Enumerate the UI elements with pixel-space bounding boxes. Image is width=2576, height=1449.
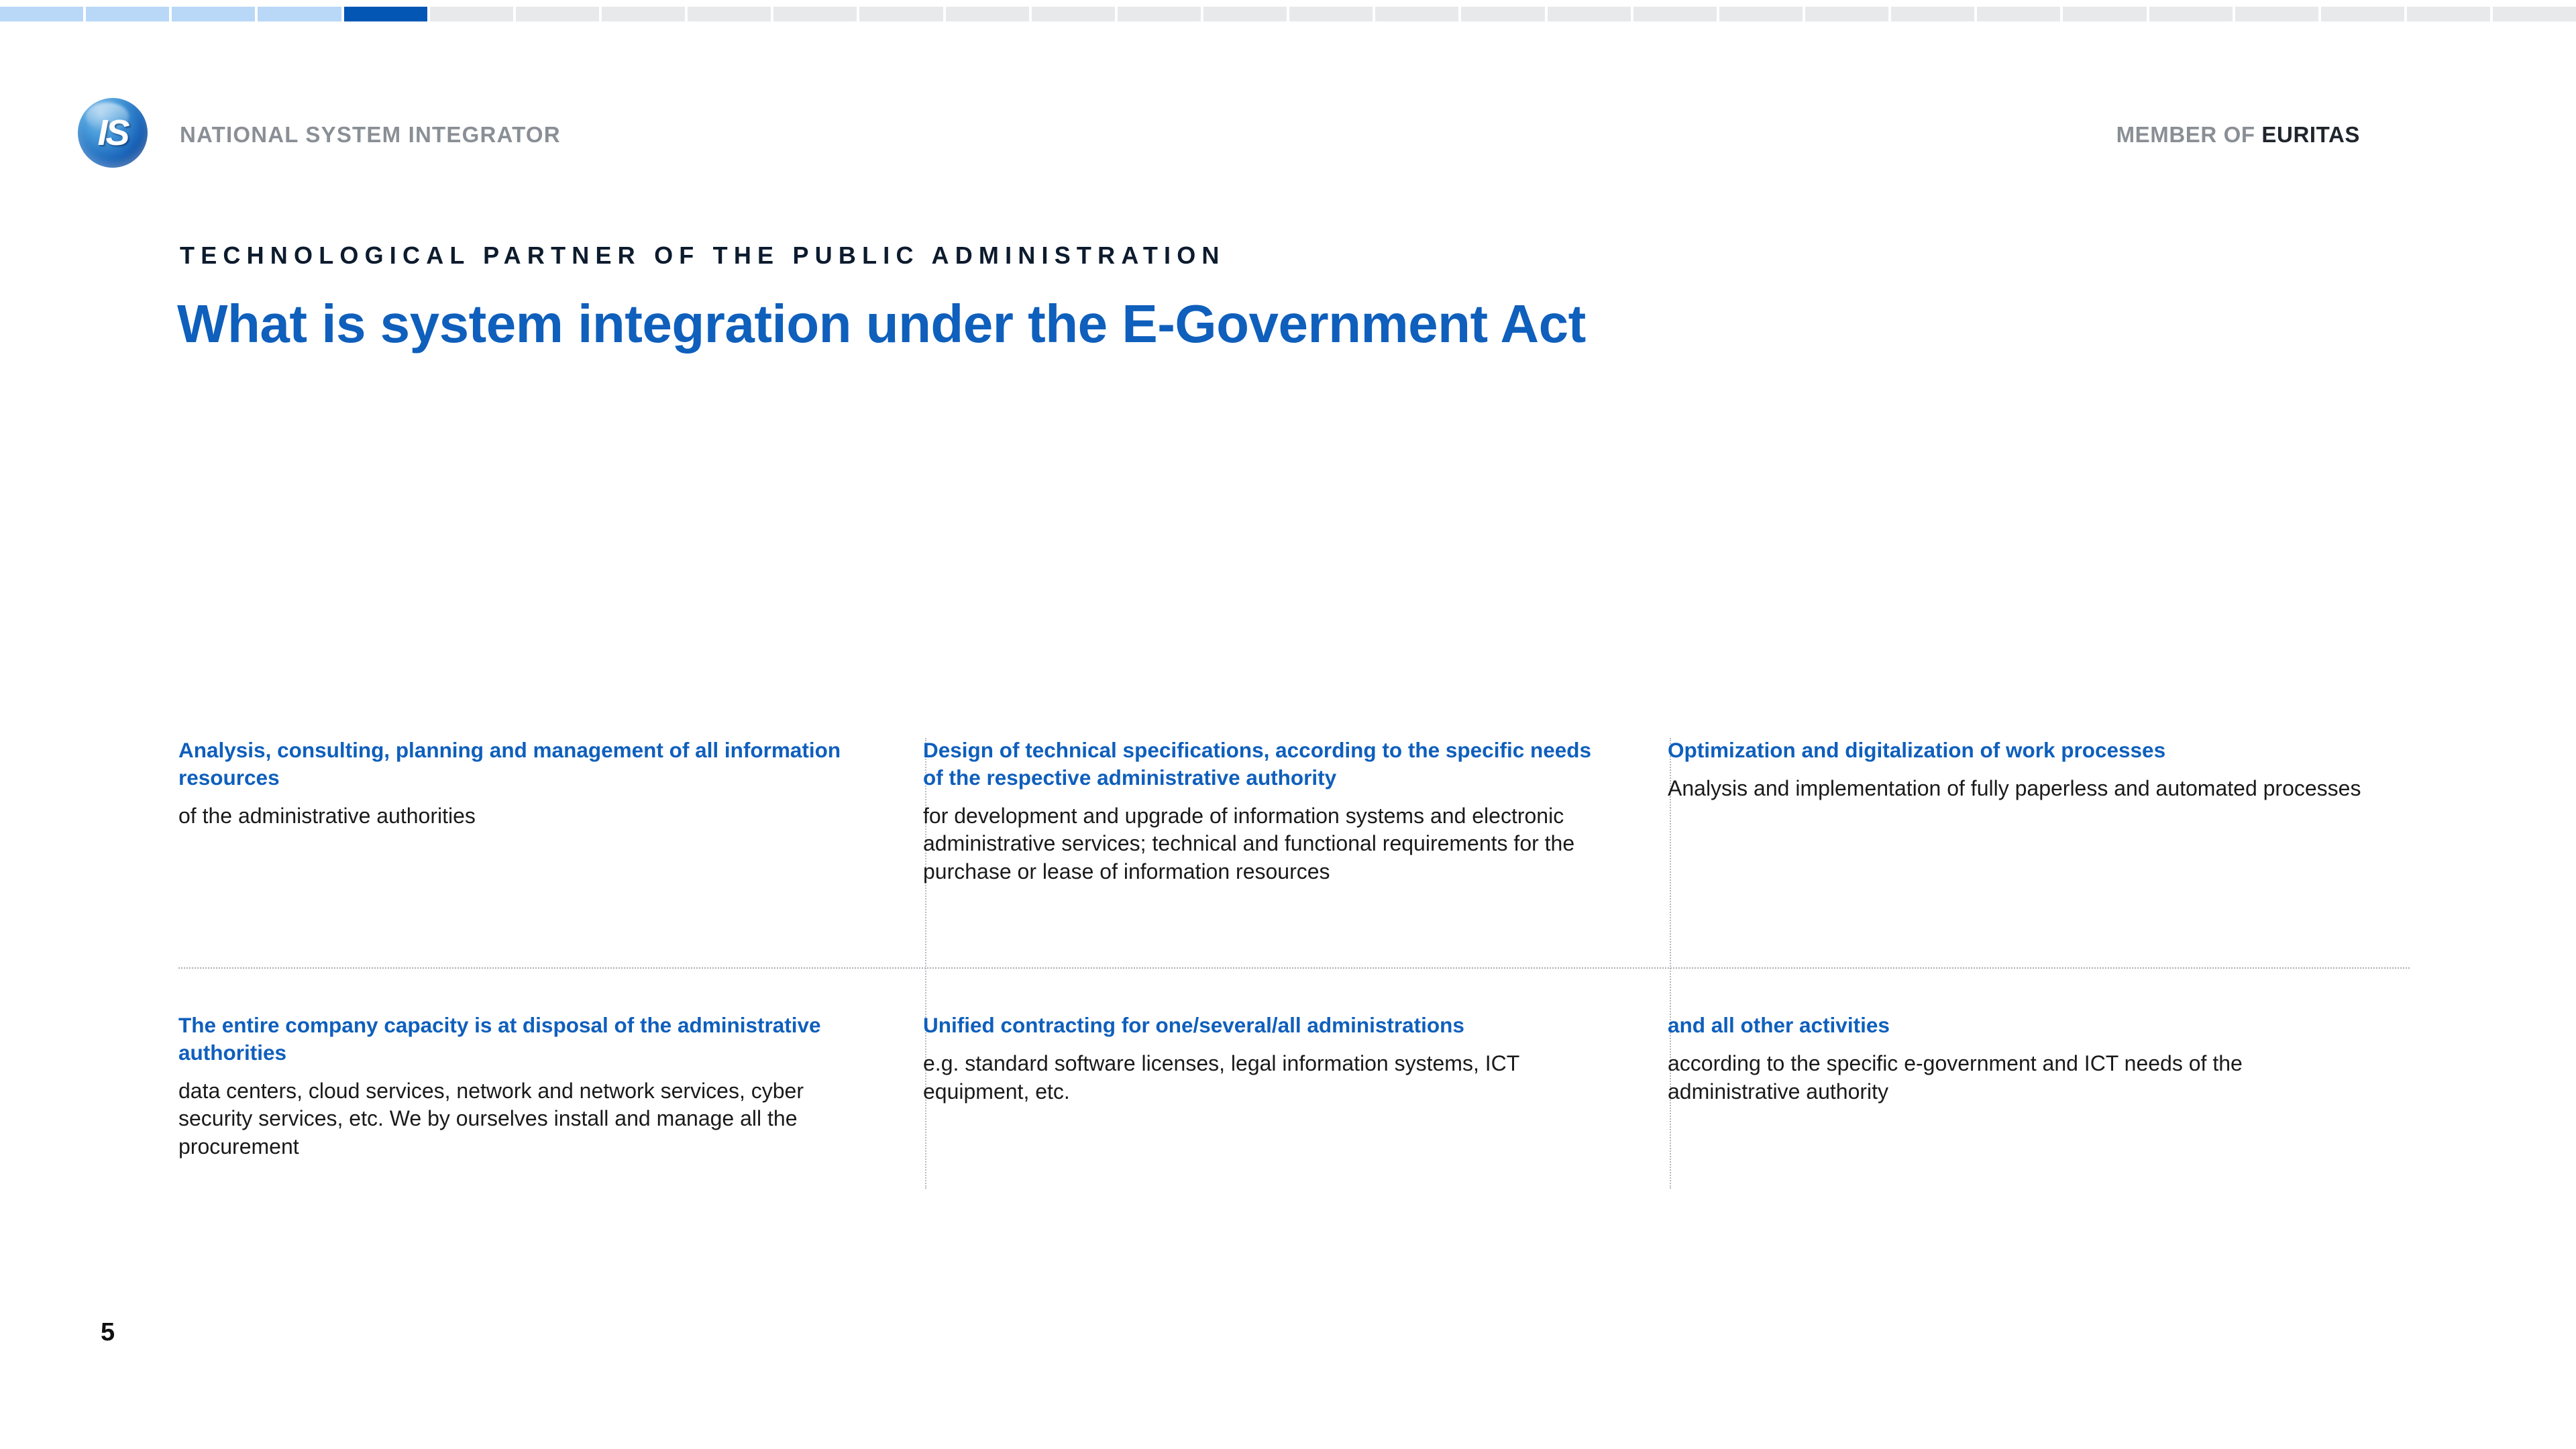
progress-segment[interactable] bbox=[688, 7, 771, 21]
progress-segment[interactable] bbox=[430, 7, 513, 21]
progress-segment[interactable] bbox=[1633, 7, 1717, 21]
grid-cell-body: Analysis and implementation of fully pap… bbox=[1668, 775, 2379, 803]
grid-cell-title: Optimization and digitalization of work … bbox=[1668, 737, 2379, 764]
page-number: 5 bbox=[101, 1318, 115, 1347]
slide-title: What is system integration under the E-G… bbox=[177, 295, 1586, 353]
progress-segment[interactable] bbox=[2063, 7, 2146, 21]
grid-cell-title: The entire company capacity is at dispos… bbox=[178, 1012, 883, 1067]
progress-segment[interactable] bbox=[946, 7, 1029, 21]
grid-cell-title: Unified contracting for one/several/all … bbox=[923, 1012, 1594, 1039]
grid-cell: Design of technical specifications, acco… bbox=[923, 737, 1594, 886]
progress-segment[interactable] bbox=[859, 7, 943, 21]
company-logo: IS bbox=[78, 98, 148, 168]
progress-segment[interactable] bbox=[1203, 7, 1287, 21]
progress-segment[interactable] bbox=[1032, 7, 1115, 21]
grid-cell: Unified contracting for one/several/all … bbox=[923, 1012, 1594, 1106]
content-grid: Analysis, consulting, planning and manag… bbox=[178, 737, 2412, 1193]
grid-cell-body: for development and upgrade of informati… bbox=[923, 802, 1594, 886]
grid-cell-body: according to the specific e-government a… bbox=[1668, 1050, 2379, 1106]
progress-segment[interactable] bbox=[2149, 7, 2233, 21]
slide-root: IS NATIONAL SYSTEM INTEGRATOR MEMBER OF … bbox=[0, 0, 2576, 1449]
progress-segment[interactable] bbox=[773, 7, 857, 21]
grid-cell: and all other activities according to th… bbox=[1668, 1012, 2379, 1106]
grid-cell-title: and all other activities bbox=[1668, 1012, 2379, 1039]
grid-cell-body: data centers, cloud services, network an… bbox=[178, 1077, 883, 1161]
grid-cell: Analysis, consulting, planning and manag… bbox=[178, 737, 883, 830]
progress-segment[interactable] bbox=[1548, 7, 1631, 21]
progress-segment[interactable] bbox=[1289, 7, 1373, 21]
grid-cell-title: Analysis, consulting, planning and manag… bbox=[178, 737, 883, 792]
progress-segment[interactable] bbox=[1891, 7, 1974, 21]
progress-segment[interactable] bbox=[0, 7, 83, 21]
slide-eyebrow: TECHNOLOGICAL PARTNER OF THE PUBLIC ADMI… bbox=[180, 241, 1226, 270]
progress-segment[interactable] bbox=[86, 7, 169, 21]
brand-tagline: NATIONAL SYSTEM INTEGRATOR bbox=[180, 122, 561, 148]
logo-letters: IS bbox=[78, 98, 148, 168]
slide-header: IS NATIONAL SYSTEM INTEGRATOR MEMBER OF … bbox=[0, 94, 2576, 168]
progress-segment[interactable] bbox=[1118, 7, 1201, 21]
progress-segment[interactable] bbox=[1805, 7, 1888, 21]
grid-cell: Optimization and digitalization of work … bbox=[1668, 737, 2379, 803]
progress-segment[interactable] bbox=[344, 7, 427, 21]
progress-segment[interactable] bbox=[2493, 7, 2576, 21]
progress-segment[interactable] bbox=[2321, 7, 2404, 21]
member-of-prefix: MEMBER OF bbox=[2116, 122, 2262, 147]
progress-segment[interactable] bbox=[2235, 7, 2318, 21]
grid-cell: The entire company capacity is at dispos… bbox=[178, 1012, 883, 1161]
grid-cell-title: Design of technical specifications, acco… bbox=[923, 737, 1594, 792]
progress-segment[interactable] bbox=[516, 7, 599, 21]
progress-segment[interactable] bbox=[1375, 7, 1458, 21]
progress-segment[interactable] bbox=[1719, 7, 1803, 21]
grid-cell-body: e.g. standard software licenses, legal i… bbox=[923, 1050, 1594, 1106]
progress-segment[interactable] bbox=[258, 7, 341, 21]
member-of-label: MEMBER OF EURITAS bbox=[2116, 122, 2360, 148]
grid-cell-body: of the administrative authorities bbox=[178, 802, 883, 830]
progress-segment[interactable] bbox=[1461, 7, 1544, 21]
slide-progress-bar bbox=[0, 7, 2576, 21]
progress-segment[interactable] bbox=[1977, 7, 2060, 21]
progress-segment[interactable] bbox=[602, 7, 685, 21]
member-org-name: EURITAS bbox=[2261, 122, 2360, 147]
progress-segment[interactable] bbox=[172, 7, 255, 21]
progress-segment[interactable] bbox=[2407, 7, 2490, 21]
